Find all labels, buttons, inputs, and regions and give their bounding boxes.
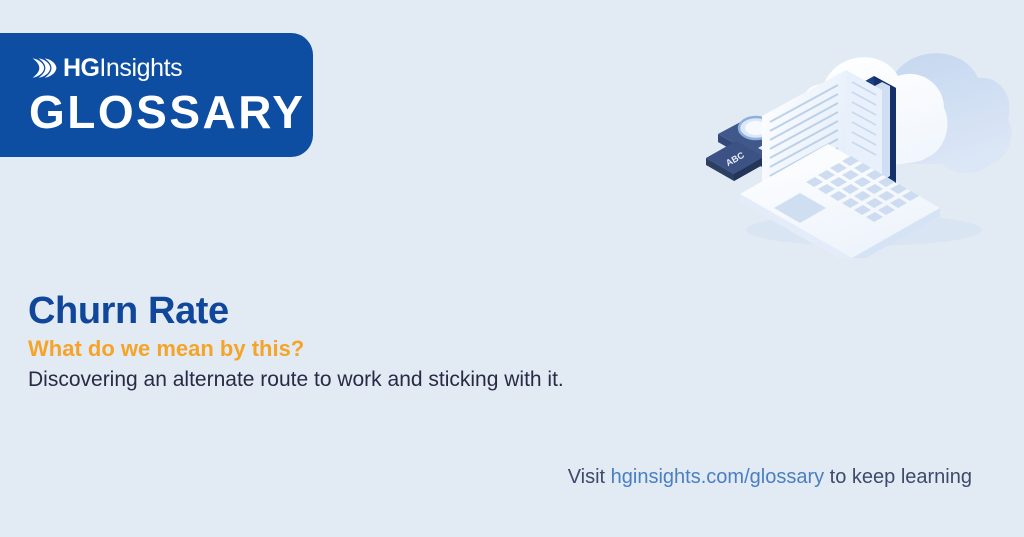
- glossary-link[interactable]: hginsights.com/glossary: [611, 466, 824, 488]
- definition-text: Discovering an alternate route to work a…: [28, 366, 564, 394]
- footer-prefix: Visit: [568, 466, 611, 488]
- definition-prompt: What do we mean by this?: [28, 335, 304, 363]
- brand-badge: HG Insights GLOSSARY: [0, 33, 313, 157]
- footer-cta: Visit hginsights.com/glossary to keep le…: [568, 464, 972, 490]
- footer-suffix: to keep learning: [824, 466, 972, 488]
- logo-text-hg: HG: [63, 56, 99, 81]
- logo-text-insights: Insights: [99, 56, 182, 81]
- glossary-card: HG Insights GLOSSARY: [0, 0, 1024, 537]
- page-title: Churn Rate: [28, 289, 229, 333]
- badge-title-glossary: GLOSSARY: [29, 89, 305, 135]
- isometric-laptop-book-cloud-illustration: ABC: [696, 18, 1016, 258]
- hg-insights-logo: HG Insights: [30, 54, 182, 82]
- hg-insights-arcs-logo-icon: [30, 56, 60, 80]
